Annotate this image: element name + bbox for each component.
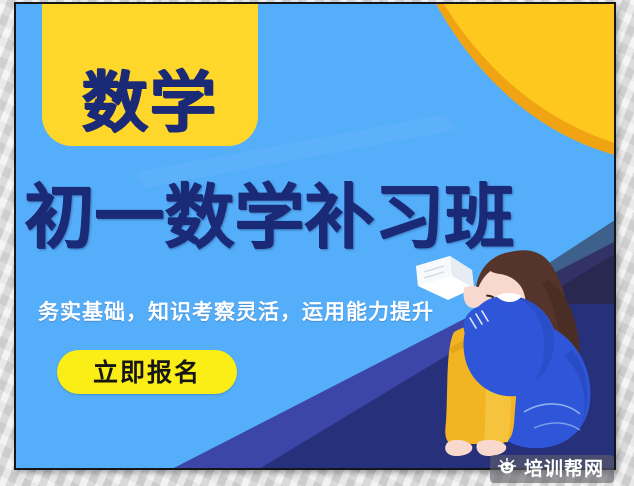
illustration-girl-reading: [414, 236, 616, 470]
enroll-now-label: 立即报名: [93, 360, 201, 385]
page-title: 初一数学补习班: [24, 182, 604, 252]
enroll-now-button[interactable]: 立即报名: [57, 350, 237, 394]
watermark-text: 培训帮网: [524, 460, 604, 479]
watermark: 培训帮网: [490, 455, 614, 483]
poster-subtitle: 务实基础，知识考察灵活，运用能力提升: [38, 296, 434, 326]
screenshot-canvas: 数学: [0, 0, 634, 486]
sun-face-logo-icon: [497, 457, 517, 482]
course-promo-poster: 数学: [14, 2, 616, 470]
subject-badge-label: 数学: [82, 70, 218, 136]
subject-badge: 数学: [42, 2, 258, 146]
illustration-svg: [414, 236, 616, 470]
